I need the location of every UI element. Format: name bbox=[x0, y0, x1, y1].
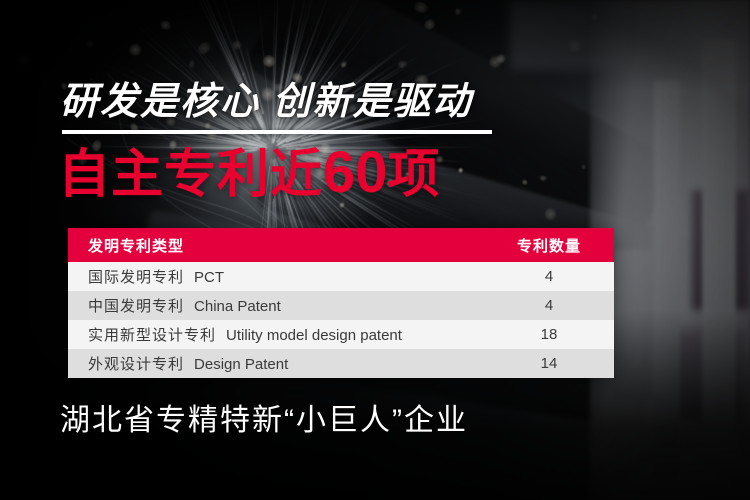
cell-patent-type: 中国发明专利China Patent bbox=[68, 295, 484, 316]
cell-patent-type: 实用新型设计专利Utility model design patent bbox=[68, 324, 484, 345]
patent-type-cn: 中国发明专利 bbox=[88, 298, 184, 315]
patent-type-en: Utility model design patent bbox=[226, 327, 402, 344]
patent-type-en: PCT bbox=[194, 269, 224, 286]
promo-poster: 研发是核心 创新是驱动 自主专利近60项 发明专利类型 专利数量 国际发明专利P… bbox=[0, 0, 750, 500]
table-row: 外观设计专利Design Patent14 bbox=[68, 349, 614, 378]
headline-secondary-suffix: 项 bbox=[388, 146, 441, 204]
column-header-count: 专利数量 bbox=[484, 235, 614, 256]
cell-patent-count: 18 bbox=[484, 326, 614, 343]
footer-tagline: 湖北省专精特新“小巨人”企业 bbox=[60, 402, 468, 440]
patent-type-cn: 外观设计专利 bbox=[88, 356, 184, 373]
cell-patent-count: 4 bbox=[484, 268, 614, 285]
patent-type-cn: 实用新型设计专利 bbox=[88, 327, 216, 344]
cell-patent-type: 外观设计专利Design Patent bbox=[68, 353, 484, 374]
headline-secondary-prefix: 自主专利近 bbox=[58, 146, 323, 204]
table-body: 国际发明专利PCT4中国发明专利China Patent4实用新型设计专利Uti… bbox=[68, 262, 614, 378]
headline-primary: 研发是核心 创新是驱动 bbox=[60, 80, 473, 124]
table-row: 实用新型设计专利Utility model design patent18 bbox=[68, 320, 614, 349]
patent-type-cn: 国际发明专利 bbox=[88, 269, 184, 286]
headline-secondary: 自主专利近60项 bbox=[58, 143, 441, 205]
table-row: 国际发明专利PCT4 bbox=[68, 262, 614, 291]
patent-type-en: Design Patent bbox=[194, 356, 288, 373]
patent-table: 发明专利类型 专利数量 国际发明专利PCT4中国发明专利China Patent… bbox=[68, 228, 614, 378]
poster-content: 研发是核心 创新是驱动 自主专利近60项 发明专利类型 专利数量 国际发明专利P… bbox=[0, 0, 750, 500]
table-header-row: 发明专利类型 专利数量 bbox=[68, 228, 614, 262]
table-row: 中国发明专利China Patent4 bbox=[68, 291, 614, 320]
headline-secondary-number: 60 bbox=[323, 140, 388, 205]
column-header-type: 发明专利类型 bbox=[68, 235, 484, 256]
headline-divider-rule bbox=[62, 130, 492, 134]
patent-type-en: China Patent bbox=[194, 298, 281, 315]
cell-patent-type: 国际发明专利PCT bbox=[68, 266, 484, 287]
cell-patent-count: 4 bbox=[484, 297, 614, 314]
cell-patent-count: 14 bbox=[484, 355, 614, 372]
